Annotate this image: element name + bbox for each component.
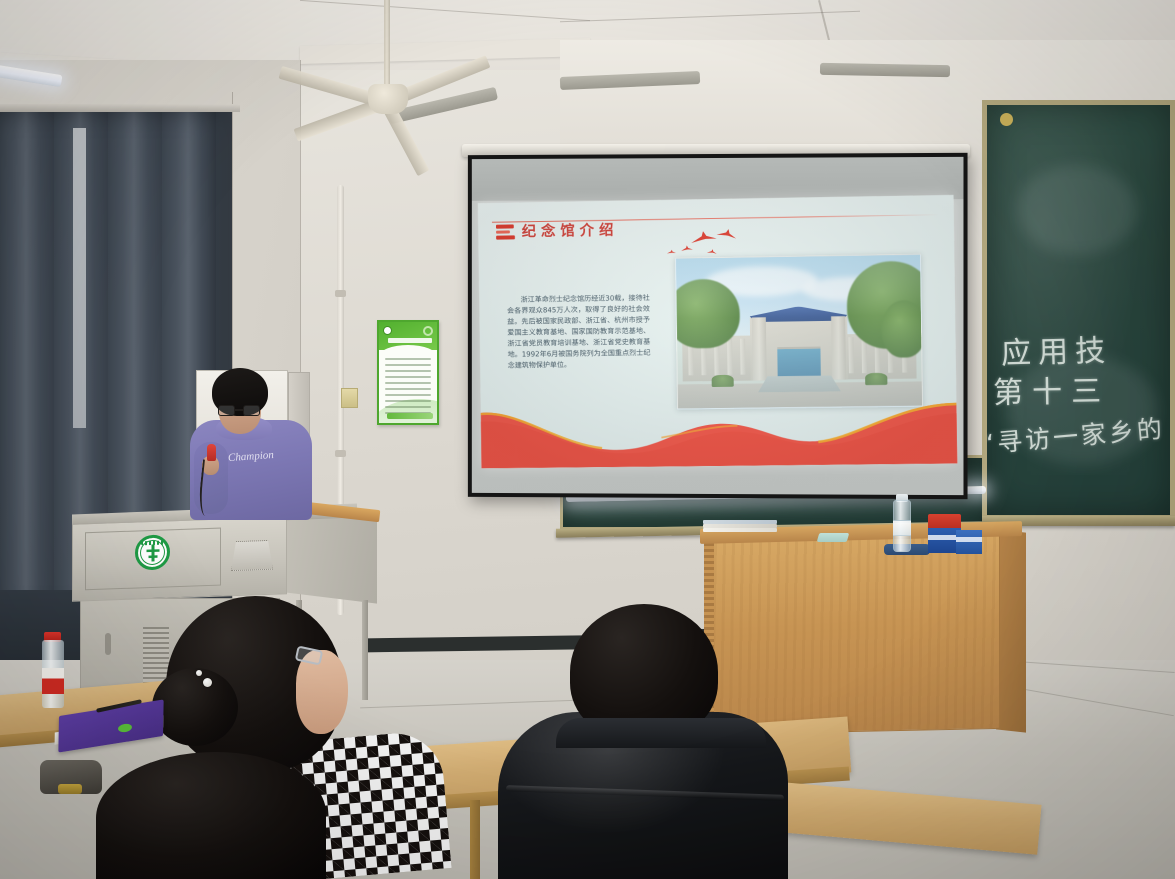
pipe-clamp-2 bbox=[335, 450, 346, 457]
photo-pillar-right bbox=[831, 316, 845, 379]
teal-card[interactable] bbox=[817, 533, 850, 542]
ceiling-fan-rod bbox=[384, 0, 390, 88]
blackboard-line-2: 第十三 bbox=[993, 366, 1111, 412]
wall-poster[interactable] bbox=[377, 320, 439, 425]
chalk-smudge-1 bbox=[1017, 165, 1137, 255]
red-ribbon-graphic bbox=[478, 387, 957, 468]
lectern-side-panel bbox=[996, 529, 1026, 732]
poster-text-lines bbox=[385, 358, 431, 418]
photo-shrub-left bbox=[712, 375, 734, 387]
book-stack[interactable] bbox=[703, 520, 777, 533]
lectern-front-panel bbox=[704, 534, 1000, 735]
bird-icon-2 bbox=[715, 227, 737, 244]
photo-shrub-right bbox=[865, 373, 887, 385]
wall-socket[interactable] bbox=[341, 388, 358, 408]
blackboard-right: 应用技 第十三 “寻访一家乡的 bbox=[982, 100, 1175, 520]
bottle-label-desk bbox=[42, 668, 64, 694]
bird-icon-3 bbox=[681, 245, 694, 254]
bird-icon-5 bbox=[706, 248, 717, 256]
projection-screen-surface: 纪念馆介绍 浙江革命烈士纪念馆历经近30载，接待社会各界观众845万人次，取得了… bbox=[472, 157, 964, 495]
podium-front-panel bbox=[72, 516, 287, 602]
glasses-icon bbox=[218, 405, 262, 416]
presentation-slide: 纪念馆介绍 浙江革命烈士纪念馆历经近30载，接待社会各界观众845万人次，取得了… bbox=[478, 195, 957, 469]
curtain-rod bbox=[0, 104, 240, 112]
classroom-scene: 应用技 第十三 “寻访一家乡的 纪念馆介绍 浙江革命烈士纪念馆历经近30载，接待… bbox=[0, 0, 1175, 879]
pearl-hair-clip-2 bbox=[196, 670, 202, 676]
bird-icon-1 bbox=[690, 229, 718, 249]
podium-trapezoid-outline bbox=[231, 540, 273, 571]
student-houndstooth-bun bbox=[152, 668, 238, 746]
podium-side-panel bbox=[285, 508, 377, 603]
photo-tree-far-right bbox=[881, 300, 923, 358]
poster-logo-icon bbox=[383, 326, 392, 335]
student-presenter: Champion bbox=[186, 368, 316, 518]
keys[interactable] bbox=[58, 784, 82, 794]
projection-screen[interactable]: 纪念馆介绍 浙江革命烈士纪念馆历经近30载，接待社会各界观众845万人次，取得了… bbox=[468, 153, 968, 499]
bird-icon-4 bbox=[667, 250, 676, 256]
red-flag-icon bbox=[496, 224, 516, 239]
pipe-clamp-1 bbox=[335, 290, 346, 297]
bottle-label-lectern bbox=[893, 520, 911, 536]
blackboard-sticker bbox=[1000, 113, 1013, 126]
student-front-left-hair bbox=[96, 752, 326, 879]
pearl-hair-clip bbox=[203, 678, 212, 687]
poster-seal-icon bbox=[423, 326, 433, 336]
poster-title-bar bbox=[388, 338, 432, 343]
screen-dim-band bbox=[472, 157, 964, 201]
student-leather-collar bbox=[556, 718, 766, 748]
slide-title: 纪念馆介绍 bbox=[522, 219, 619, 242]
memorial-hall-photo bbox=[675, 254, 923, 410]
photo-entrance bbox=[777, 347, 821, 378]
window-gap bbox=[73, 128, 86, 428]
slide-body-text: 浙江革命烈士纪念馆历经近30载，接待社会各界观众845万人次，取得了良好的社会效… bbox=[507, 292, 651, 371]
tissue-box-blue-small[interactable] bbox=[956, 530, 982, 554]
ceiling-fan-motor bbox=[368, 84, 408, 114]
student-houndstooth-face bbox=[296, 650, 348, 734]
tissue-box-small-strip bbox=[956, 537, 982, 542]
photo-pillar-left bbox=[752, 317, 766, 380]
podium-door-handle[interactable] bbox=[105, 633, 111, 655]
microphone-icon[interactable] bbox=[207, 444, 216, 461]
desk-leg-1 bbox=[470, 800, 480, 879]
fluorescent-light-tube-far-right bbox=[820, 63, 950, 77]
poster-footer-bar bbox=[387, 413, 433, 419]
